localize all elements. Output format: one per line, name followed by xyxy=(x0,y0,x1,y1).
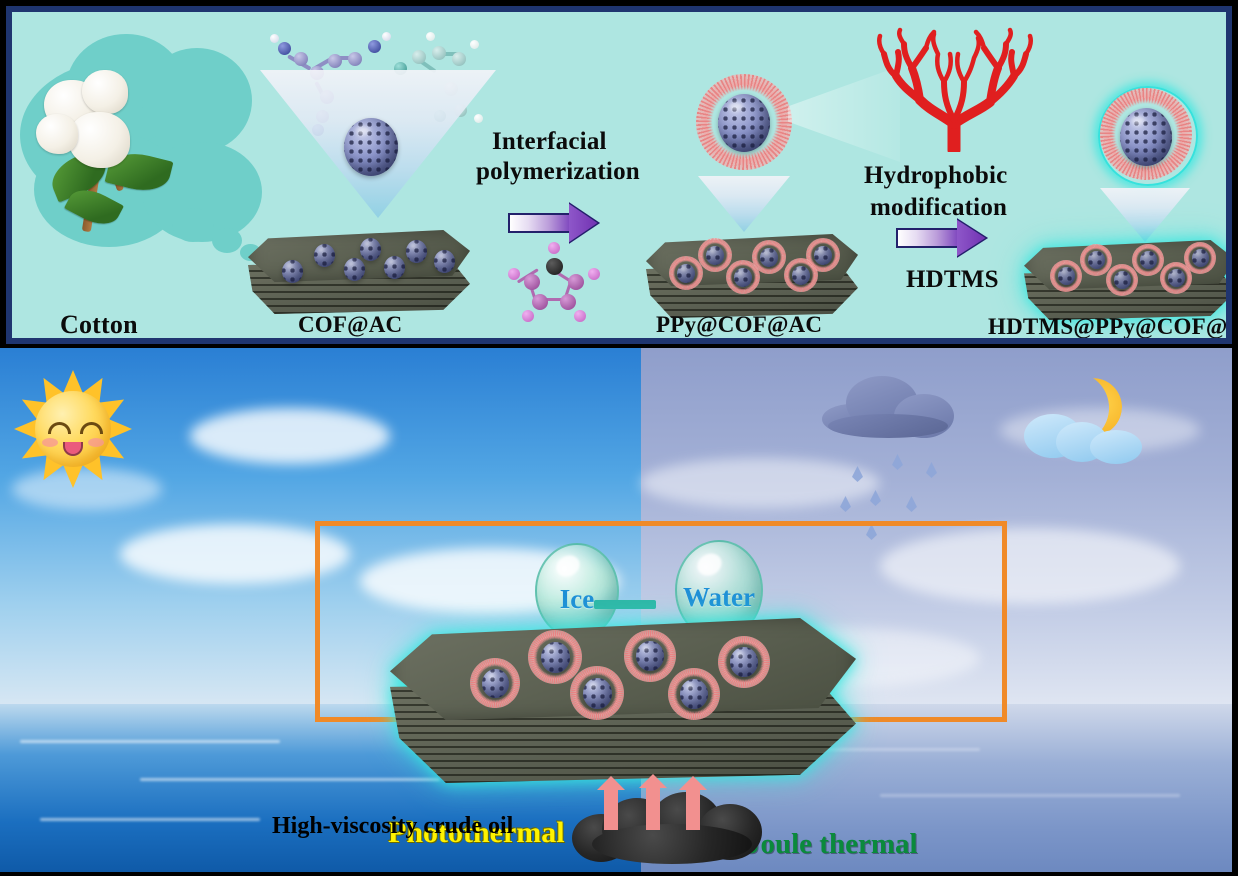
atom-hydrogen xyxy=(574,310,586,322)
porous-cof-sphere-icon xyxy=(718,94,770,152)
wave xyxy=(20,740,280,743)
red-coral-icon xyxy=(874,24,1034,152)
stage-label-cotton: Cotton xyxy=(60,310,138,340)
cof-particle xyxy=(360,238,381,261)
oil-flow-arrow xyxy=(646,786,660,830)
oil-flow-arrow xyxy=(604,788,618,830)
cloud xyxy=(190,408,390,464)
thought-cloud-blob xyxy=(142,48,252,153)
crude-oil-blob-icon xyxy=(572,788,772,868)
coral-svg xyxy=(874,24,1034,152)
cof-particle xyxy=(760,248,778,267)
cof-particle xyxy=(734,268,752,287)
cof-particle xyxy=(384,256,405,279)
atom-hydrogen xyxy=(508,268,520,280)
cotton-boll xyxy=(36,114,78,154)
water-bubble-label: Water xyxy=(677,582,761,613)
atom-hydrogen xyxy=(270,34,279,43)
atom-carbon xyxy=(532,294,548,310)
crude-oil-label: High-viscosity crude oil xyxy=(272,813,513,840)
atom-nitrogen xyxy=(546,258,563,275)
cotton-boll xyxy=(82,70,128,114)
atom-carbon xyxy=(348,52,362,66)
stage-label-cofac: COF@AC xyxy=(298,312,402,338)
atom-nitrogen xyxy=(278,42,291,55)
atom-carbon xyxy=(560,294,576,310)
atom-carbon xyxy=(294,52,308,66)
step2-reagent-hdtms: HDTMS xyxy=(906,266,999,294)
atom-carbon xyxy=(412,50,426,64)
phase-change-arrow xyxy=(594,600,656,609)
oil-flow-arrow xyxy=(686,788,700,830)
cof-particle xyxy=(314,244,335,267)
cof-particle xyxy=(282,260,303,283)
figure-canvas: Cotton xyxy=(0,0,1238,876)
atom-nitrogen xyxy=(368,40,381,53)
funnel-icon xyxy=(698,176,790,232)
atom-carbon xyxy=(432,46,446,60)
smiling-sun-icon xyxy=(14,370,132,488)
cof-particle xyxy=(1140,251,1157,269)
cof-particle xyxy=(1168,269,1185,287)
cof-particle xyxy=(541,642,570,673)
thought-cloud-tail xyxy=(172,208,214,242)
cof-particle xyxy=(1114,271,1131,289)
thought-cloud-tail xyxy=(212,228,242,253)
cof-particle xyxy=(482,669,509,698)
atom-hydrogen xyxy=(522,310,534,322)
cof-particle xyxy=(677,264,695,283)
atom-hydrogen xyxy=(426,32,435,41)
pyrrole-monomer-molecule xyxy=(508,242,600,322)
cof-particle xyxy=(680,679,708,709)
funnel-icon xyxy=(1100,188,1190,242)
atom-carbon xyxy=(524,274,540,290)
wave xyxy=(880,794,1180,797)
cof-particle xyxy=(434,250,455,273)
porous-cof-sphere-icon xyxy=(344,118,398,176)
atom-hydrogen xyxy=(588,268,600,280)
stage-label-ppycofac: PPy@COF@AC xyxy=(656,312,822,338)
cof-particle xyxy=(636,641,664,671)
hydrophobic-modification-arrow xyxy=(896,218,988,258)
atom-hydrogen xyxy=(470,40,479,49)
rain-cloud-icon xyxy=(812,366,972,466)
step1-line1: Interfacial xyxy=(492,128,607,156)
sun-blush xyxy=(42,438,58,447)
porous-cof-sphere-icon xyxy=(1120,108,1172,166)
step2-line1: Hydrophobic xyxy=(864,162,1007,190)
atom-carbon xyxy=(328,54,342,68)
atom-carbon xyxy=(568,274,584,290)
cof-particle xyxy=(730,647,758,677)
atom-hydrogen xyxy=(548,242,560,254)
cof-particle xyxy=(792,266,810,285)
crescent-moon-with-cloud-icon xyxy=(1020,368,1150,478)
application-scene-panel: Photothermal Joule thermal Ice Water xyxy=(0,348,1232,872)
wave xyxy=(40,818,260,821)
cof-particle xyxy=(1088,251,1105,269)
cof-particle xyxy=(344,258,365,281)
cof-particle xyxy=(814,246,832,265)
synthesis-route-panel: Cotton xyxy=(6,6,1232,344)
cof-particle xyxy=(1058,267,1075,285)
interfacial-polymerization-arrow xyxy=(508,202,600,244)
cloud xyxy=(1090,430,1142,464)
cof-particle xyxy=(1192,249,1209,267)
atom-carbon xyxy=(452,52,466,66)
cof-particle xyxy=(583,678,612,709)
stage-label-hdtms: HDTMS@PPy@COF@AC xyxy=(988,314,1232,340)
hdtms-ppy-cof-ac-slab-icon xyxy=(390,618,856,783)
cof-particle xyxy=(706,246,724,265)
sun-blush xyxy=(88,438,104,447)
cof-particle xyxy=(406,240,427,263)
step1-line2: polymerization xyxy=(476,158,640,186)
